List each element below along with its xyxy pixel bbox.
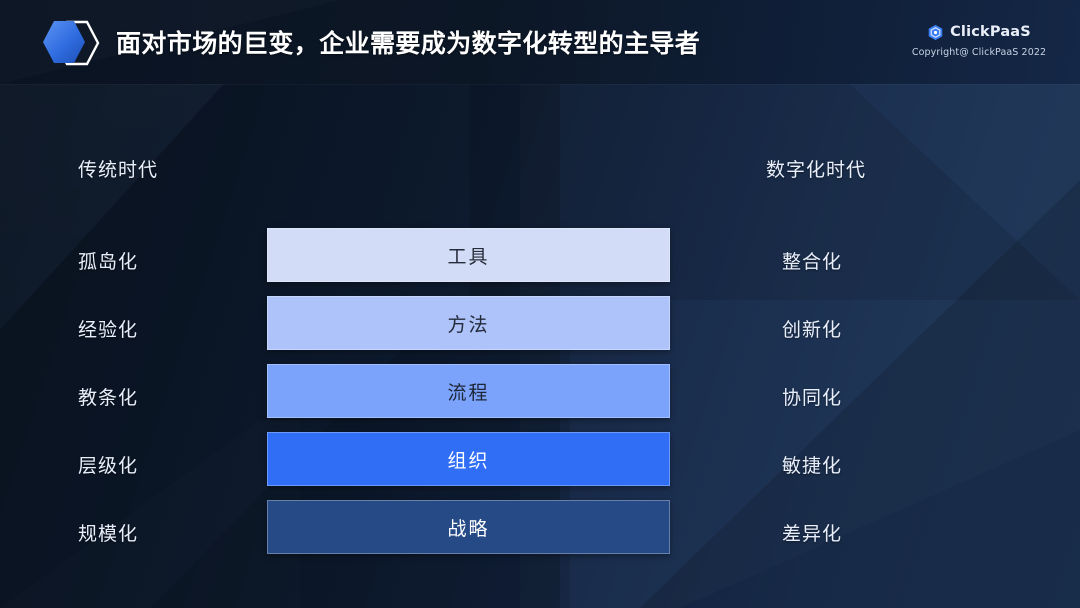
brand-name: ClickPaaS	[950, 24, 1031, 40]
list-item: 经验化	[78, 294, 258, 362]
hexagon-logo-icon	[40, 18, 106, 68]
slide-header: 面对市场的巨变，企业需要成为数字化转型的主导者 ClickPaaS Copyri…	[0, 0, 1080, 84]
bar-item[interactable]: 工具	[267, 228, 670, 282]
right-column-heading: 数字化时代	[766, 155, 866, 182]
list-item: 敏捷化	[782, 430, 962, 498]
right-column-list: 整合化 创新化 协同化 敏捷化 差异化	[782, 226, 962, 566]
bar-item[interactable]: 组织	[267, 432, 670, 486]
list-item: 整合化	[782, 226, 962, 294]
list-item: 差异化	[782, 498, 962, 566]
center-bar-stack: 工具 方法 流程 组织 战略	[267, 228, 670, 554]
bar-item[interactable]: 流程	[267, 364, 670, 418]
list-item: 教条化	[78, 362, 258, 430]
bar-item[interactable]: 方法	[267, 296, 670, 350]
brand-row: ClickPaaS	[904, 22, 1054, 42]
slide-canvas: 面对市场的巨变，企业需要成为数字化转型的主导者 ClickPaaS Copyri…	[0, 0, 1080, 608]
copyright-text: Copyright@ ClickPaaS 2022	[904, 47, 1054, 58]
list-item: 协同化	[782, 362, 962, 430]
left-column-heading: 传统时代	[78, 155, 158, 182]
bar-item[interactable]: 战略	[267, 500, 670, 554]
list-item: 规模化	[78, 498, 258, 566]
list-item: 层级化	[78, 430, 258, 498]
page-title: 面对市场的巨变，企业需要成为数字化转型的主导者	[116, 0, 700, 84]
list-item: 孤岛化	[78, 226, 258, 294]
left-column-list: 孤岛化 经验化 教条化 层级化 规模化	[78, 226, 258, 566]
brand-block: ClickPaaS Copyright@ ClickPaaS 2022	[904, 22, 1054, 58]
list-item: 创新化	[782, 294, 962, 362]
clickpaas-hexagon-mark-icon	[927, 24, 944, 41]
